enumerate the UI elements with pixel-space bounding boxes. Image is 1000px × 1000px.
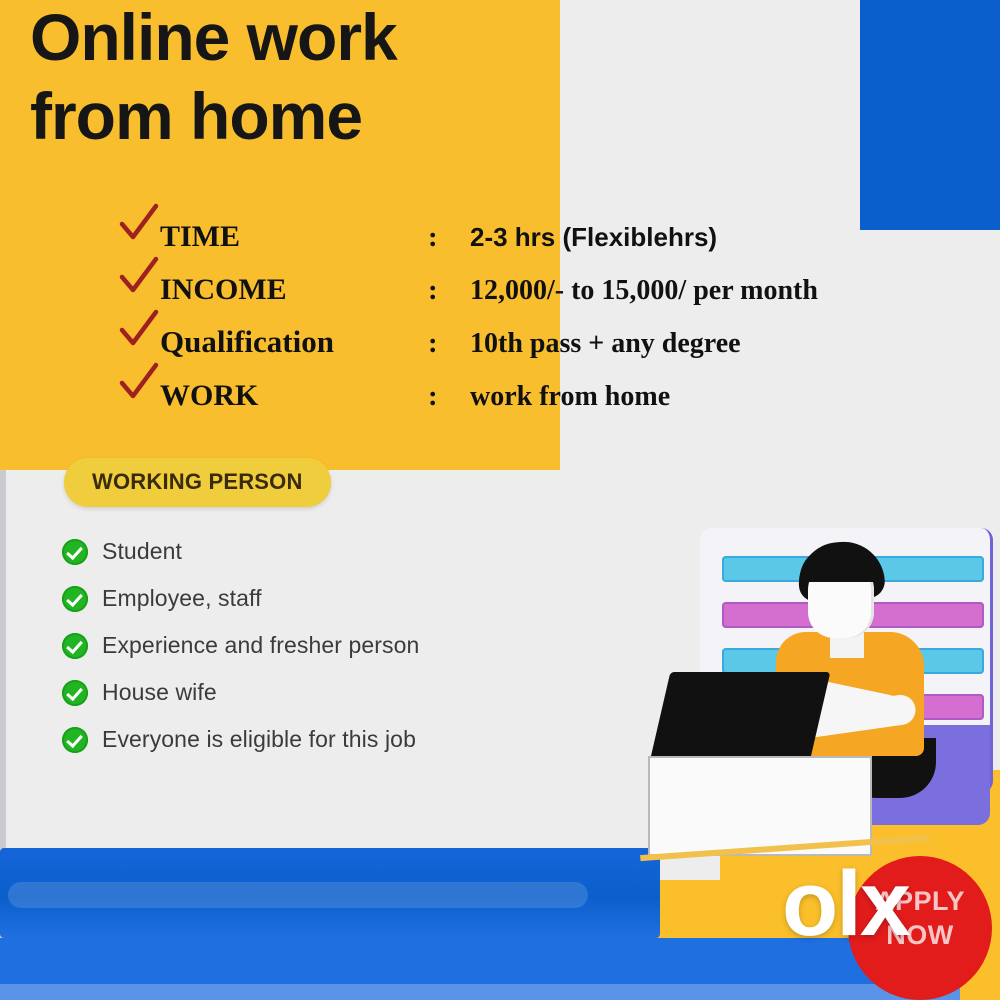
list-item: Student [62, 528, 622, 575]
list-item: Everyone is eligible for this job [62, 716, 622, 763]
red-check-icon [118, 312, 160, 352]
badge-label: WORKING PERSON [92, 469, 303, 494]
list-item-label: Student [102, 538, 182, 565]
red-check-icon [118, 206, 160, 246]
list-item-label: Experience and fresher person [102, 632, 419, 659]
person-hair-front [800, 548, 878, 582]
detail-label: TIME [160, 220, 428, 254]
detail-value: work from home [470, 381, 670, 413]
list-item-label: House wife [102, 679, 217, 706]
green-check-icon [62, 680, 88, 706]
headline-line-2: from home [30, 85, 650, 148]
page-title: Online work from home [30, 6, 650, 147]
red-check-icon [118, 365, 160, 405]
detail-row: WORK : work from home [118, 365, 998, 418]
green-check-icon [62, 539, 88, 565]
detail-label: Qualification [160, 324, 428, 360]
detail-value: 12,000/- to 15,000/ per month [470, 275, 818, 307]
blue-chevron-shape [860, 0, 1000, 230]
list-item: Employee, staff [62, 575, 622, 622]
green-check-icon [62, 727, 88, 753]
detail-separator: : [428, 274, 470, 307]
list-item-label: Employee, staff [102, 585, 262, 612]
olx-watermark: olx [782, 858, 909, 950]
blue-banner-highlight [8, 882, 588, 908]
headline-line-1: Online work [30, 0, 397, 74]
green-check-icon [62, 586, 88, 612]
detail-label: WORK [160, 379, 428, 413]
list-item-label: Everyone is eligible for this job [102, 726, 416, 753]
laptop-screen-icon [650, 672, 831, 762]
detail-separator: : [428, 327, 470, 360]
detail-separator: : [428, 380, 470, 413]
advertisement-poster: Online work from home TIME : 2-3 hrs (Fl… [0, 0, 1000, 1000]
red-check-icon [118, 259, 160, 299]
working-person-badge: WORKING PERSON [64, 458, 331, 507]
detail-value: 10th pass + any degree [470, 328, 741, 360]
job-details-list: TIME : 2-3 hrs (Flexiblehrs) INCOME : 12… [118, 206, 998, 418]
list-item: House wife [62, 669, 622, 716]
person-working-on-laptop-illustration [640, 520, 1000, 880]
detail-value: 2-3 hrs (Flexiblehrs) [470, 222, 717, 253]
detail-separator: : [428, 221, 470, 254]
detail-row: Qualification : 10th pass + any degree [118, 312, 998, 365]
list-item: Experience and fresher person [62, 622, 622, 669]
green-check-icon [62, 633, 88, 659]
detail-row: TIME : 2-3 hrs (Flexiblehrs) [118, 206, 998, 259]
bottom-blue-strip-light [0, 984, 960, 1000]
detail-label: INCOME [160, 273, 428, 307]
eligibility-list: Student Employee, staff Experience and f… [62, 528, 622, 763]
detail-row: INCOME : 12,000/- to 15,000/ per month [118, 259, 998, 312]
